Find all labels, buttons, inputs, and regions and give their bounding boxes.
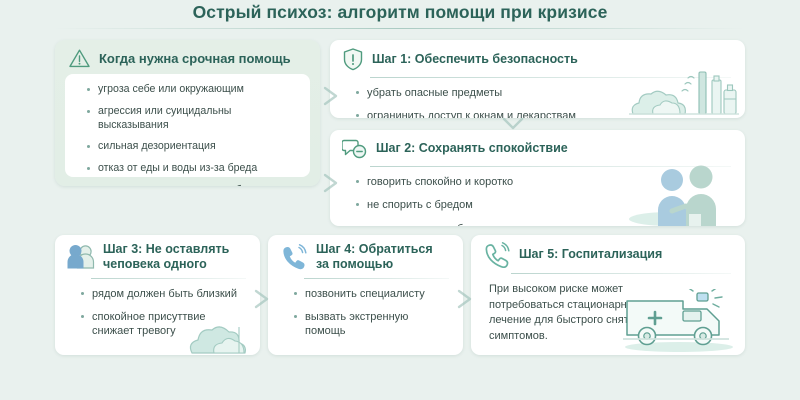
step1-card-header: Шаг 1: Обеспечить безопасность (330, 40, 745, 77)
warning-card-heading: Когда нужна срочная помощь (99, 51, 291, 67)
step4-list: позвонить специалисту вызвать экстренную… (268, 279, 463, 347)
step2-card-header: Шаг 2: Сохранять спокойствие (330, 130, 745, 166)
list-item: сильная дезориентация (87, 140, 298, 154)
step5-paragraph: При высоком риске может потребоваться ст… (471, 274, 745, 344)
arrow-step1-to-step2 (500, 116, 526, 133)
step5-card-heading: Шаг 5: Госпитализация (519, 247, 662, 262)
step2-list: говорить спокойно и коротко не спорить с… (330, 167, 745, 226)
step3-card-heading: Шаг 3: Не оставлять чеповека одного (103, 242, 229, 273)
list-item: отказ от еды и воды из-за бреда (87, 162, 298, 176)
step3-list: рядом должен быть близкий спокойное прис… (55, 279, 260, 347)
list-item: агрессия или суицидальны высказывания (87, 105, 298, 133)
step2-card: Шаг 2: Сохранять спокойствие говорить сп… (330, 130, 745, 226)
step1-list: убрать опасные предметы огранинить досту… (330, 78, 745, 118)
warning-triangle-icon (68, 48, 91, 69)
step1-card: Шаг 1: Обеспечить безопасность убрать оп… (330, 40, 745, 118)
arrow-warning-to-step2 (322, 172, 346, 194)
list-item: не подтверждать бредовые идеи (356, 222, 731, 226)
step5-card-header: Шаг 5: Госпитализация (471, 235, 745, 273)
warning-card: Когда нужна срочная помощь угроза себе и… (55, 40, 320, 186)
arrow-step3-to-step4 (253, 288, 277, 310)
shield-exclamation-icon (342, 47, 364, 72)
step3-heading-line1: Шаг 3: Не оставлять (103, 242, 229, 257)
title-divider (55, 28, 745, 29)
step3-card: Шаг 3: Не оставлять чеповека одного рядо… (55, 235, 260, 355)
list-item: не спорить с бредом (356, 198, 731, 212)
speech-bubbles-icon (342, 137, 368, 161)
warning-card-header: Когда нужна срочная помощь (55, 40, 320, 75)
step2-card-heading: Шаг 2: Сохранять спокойствие (376, 141, 568, 156)
step4-card-heading: Шаг 4: Обратиться за помощью (316, 242, 433, 273)
step4-card-header: Шаг 4: Обратиться за помощью (268, 235, 463, 278)
warning-card-list-panel: угроза себе или окружающим агрессия или … (65, 74, 310, 177)
list-item: говорить спокойно и коротко (356, 175, 731, 189)
list-item: рядом должен быть близкий (81, 287, 246, 301)
page-title: Острый психоз: алгоритм помощи при кризи… (0, 2, 800, 23)
list-item: угроза себе или окружающим (87, 83, 298, 97)
step5-card: Шаг 5: Госпитализация При высоком риске … (471, 235, 745, 355)
step3-heading-line2: чеповека одного (103, 257, 229, 272)
step3-card-header: Шаг 3: Не оставлять чеповека одного (55, 235, 260, 278)
arrow-step4-to-step5 (456, 288, 480, 310)
list-item: сильное психомоторное возбуждение (87, 184, 298, 186)
two-persons-icon (67, 244, 95, 270)
infographic-canvas: Острый психоз: алгоритм помощи при кризи… (0, 0, 800, 400)
list-item: убрать опасные предметы (356, 86, 731, 100)
step4-heading-line1: Шаг 4: Обратиться (316, 242, 433, 257)
step1-card-heading: Шаг 1: Обеспечить безопасность (372, 52, 578, 67)
warning-card-list: угроза себе или окружающим агрессия или … (65, 74, 310, 186)
list-item: вызвать экстренную помощь (294, 310, 449, 339)
list-item: огранинить доступ к окнам и лекарствам (356, 109, 731, 118)
list-item: спокойное присуттвие снижает тревогу (81, 310, 246, 339)
arrow-warning-to-step1 (322, 85, 346, 107)
phone-ringing-icon (280, 244, 308, 270)
list-item: позвонить специалисту (294, 287, 449, 301)
step4-card: Шаг 4: Обратиться за помощью позвонить с… (268, 235, 463, 355)
phone-ringing-icon (483, 242, 511, 268)
step4-heading-line2: за помощью (316, 257, 433, 272)
